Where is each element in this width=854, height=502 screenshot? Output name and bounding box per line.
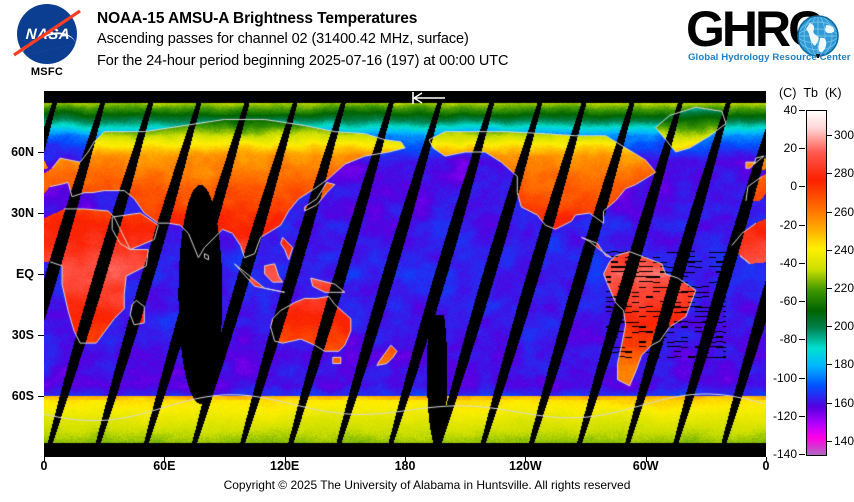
colorbar-header: (C) Tb (K) (779, 86, 842, 100)
colorbar-kelvin-tick (826, 173, 832, 174)
y-axis-tick-mark (38, 335, 44, 336)
title-block: NOAA-15 AMSU-A Brightness Temperatures A… (97, 8, 508, 72)
colorbar-celsius-label: -80 (752, 332, 797, 346)
colorbar-celsius-label: -100 (752, 371, 797, 385)
colorbar-kelvin-tick (826, 326, 832, 327)
colorbar-celsius-label: -40 (752, 256, 797, 270)
colorbar-kelvin-label: 160 (834, 396, 854, 410)
colorbar-kelvin-tick (826, 212, 832, 213)
nasa-red-vector-icon (10, 8, 84, 60)
nasa-center-label: MSFC (8, 66, 86, 78)
ghrc-logo: GHRC Global Hydro (686, 6, 846, 72)
colorbar-gradient (807, 111, 826, 455)
colorbar-celsius-label: 40 (752, 103, 797, 117)
y-axis-tick-mark (38, 396, 44, 397)
colorbar-celsius-tick (799, 416, 805, 417)
subtitle-channel: Ascending passes for channel 02 (31400.4… (97, 29, 508, 51)
x-axis-tick-mark (164, 457, 165, 462)
y-axis-tick-label: 60N (0, 145, 34, 159)
colorbar-unit-kelvin: (K) (825, 86, 842, 100)
colorbar-kelvin-label: 140 (834, 434, 854, 448)
x-axis-tick-mark (405, 457, 406, 462)
colorbar-kelvin-label: 300 (834, 128, 854, 142)
map-raster (44, 91, 766, 457)
colorbar-celsius-label: -20 (752, 218, 797, 232)
colorbar-kelvin-label: 280 (834, 166, 854, 180)
colorbar-kelvin-tick (826, 250, 832, 251)
colorbar-celsius-label: 0 (752, 179, 797, 193)
x-axis-tick-mark (646, 457, 647, 462)
nasa-msfc-logo: NASA MSFC (8, 4, 86, 86)
colorbar-celsius-tick (799, 186, 805, 187)
colorbar-celsius-tick (799, 301, 805, 302)
colorbar-celsius-label: -60 (752, 294, 797, 308)
y-axis-tick-label: 60S (0, 389, 34, 403)
colorbar-celsius-tick (799, 339, 805, 340)
colorbar-kelvin-label: 260 (834, 205, 854, 219)
colorbar-celsius-tick (799, 110, 805, 111)
brightness-temperature-map[interactable] (44, 91, 766, 457)
colorbar-kelvin-label: 180 (834, 357, 854, 371)
page-title: NOAA-15 AMSU-A Brightness Temperatures (97, 8, 508, 29)
y-axis-tick-label: 30S (0, 328, 34, 342)
colorbar-kelvin-label: 240 (834, 243, 854, 257)
colorbar-kelvin-tick (826, 403, 832, 404)
colorbar-kelvin-label: 220 (834, 281, 854, 295)
subtitle-period: For the 24-hour period beginning 2025-07… (97, 51, 508, 73)
left-arrow-marker-icon (412, 92, 446, 104)
colorbar-celsius-label: -140 (752, 447, 797, 461)
y-axis-tick-mark (38, 274, 44, 275)
y-axis-tick-mark (38, 152, 44, 153)
copyright-notice: Copyright © 2025 The University of Alaba… (0, 478, 854, 492)
colorbar-celsius-label: -120 (752, 409, 797, 423)
colorbar-kelvin-label: 200 (834, 319, 854, 333)
page-header: NASA MSFC NOAA-15 AMSU-A Brightness Temp… (0, 0, 854, 90)
y-axis-tick-label: 30N (0, 206, 34, 220)
ghrc-subtitle: Global Hydrology Resource Center (688, 52, 851, 63)
colorbar-celsius-label: 20 (752, 141, 797, 155)
colorbar-celsius-tick (799, 263, 805, 264)
colorbar-celsius-tick (799, 148, 805, 149)
x-axis-tick-mark (525, 457, 526, 462)
x-axis-tick-mark (285, 457, 286, 462)
colorbar-celsius-tick (799, 378, 805, 379)
colorbar-celsius-tick (799, 225, 805, 226)
colorbar-celsius-tick (799, 454, 805, 455)
y-axis-tick-mark (38, 213, 44, 214)
colorbar-variable: Tb (803, 86, 818, 100)
colorbar-unit-celsius: (C) (779, 86, 796, 100)
colorbar (806, 110, 827, 456)
colorbar-kelvin-tick (826, 364, 832, 365)
x-axis-tick-mark (44, 457, 45, 462)
colorbar-kelvin-tick (826, 441, 832, 442)
colorbar-kelvin-tick (826, 288, 832, 289)
y-axis-tick-label: EQ (0, 267, 34, 281)
colorbar-kelvin-tick (826, 135, 832, 136)
